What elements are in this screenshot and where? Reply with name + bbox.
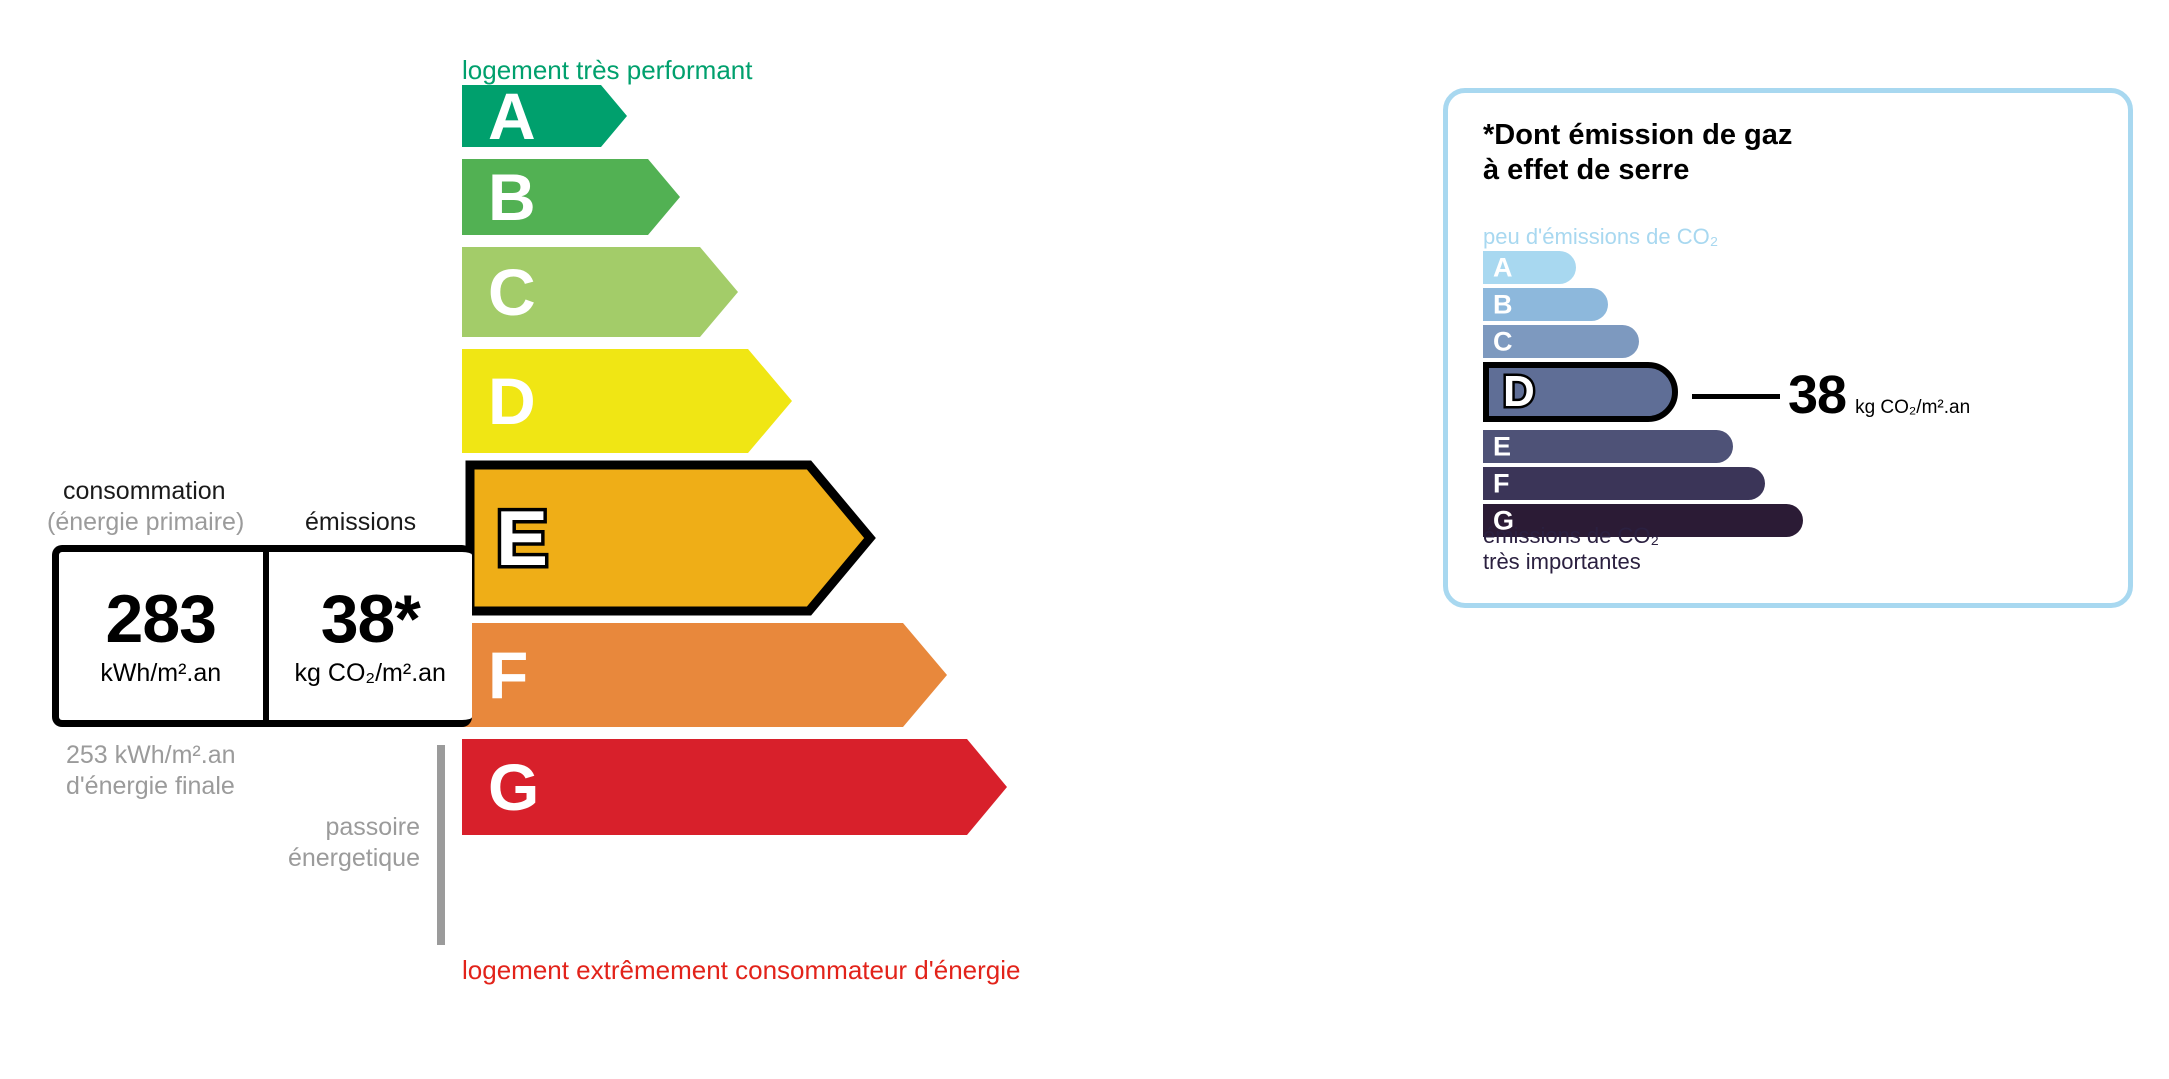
co2-class-row-f: F: [1483, 467, 1803, 500]
co2-class-letter-b: B: [1493, 291, 1513, 318]
final-energy-line2: d'énergie finale: [66, 771, 236, 802]
primary-energy-unit: kWh/m².an: [100, 659, 221, 688]
energy-class-letter-a: A: [488, 83, 536, 149]
measured-values-box: 283 kWh/m².an 38* kg CO₂/m².an: [52, 545, 472, 727]
co2-class-letter-e: E: [1493, 433, 1511, 460]
co2-class-letter-f: F: [1493, 470, 1510, 497]
co2-measured-value: 38: [1788, 368, 1846, 422]
co2-class-row-d: D: [1483, 362, 1803, 422]
co2-bottom-caption: émissions de CO₂ très importantes: [1483, 523, 1659, 576]
co2-class-bar-d: D: [1483, 362, 1678, 422]
emissions-label: émissions: [305, 508, 416, 537]
co2-measured-value-group: 38 kg CO₂/m².an: [1788, 368, 1970, 422]
energy-class-arrow-c: C: [462, 247, 738, 337]
co2-class-letter-c: C: [1493, 328, 1513, 355]
energy-class-letter-f: F: [488, 642, 528, 708]
co2-top-caption: peu d'émissions de CO₂: [1483, 224, 1718, 250]
co2-class-bar-b: B: [1483, 288, 1608, 321]
co2-panel-title: *Dont émission de gaz à effet de serre: [1483, 118, 1792, 188]
primary-energy-value-cell: 283 kWh/m².an: [59, 552, 269, 720]
passoire-energetique-note: passoire énergetique: [280, 812, 420, 873]
energy-class-letter-b: B: [488, 164, 536, 230]
energy-class-letter-e: E: [496, 499, 548, 577]
co2-class-bar-f: F: [1483, 467, 1765, 500]
co2-class-bar-a: A: [1483, 251, 1576, 284]
co2-measured-unit: kg CO₂/m².an: [1855, 397, 1970, 419]
co2-leader-line: [1692, 394, 1780, 399]
co2-class-row-c: C: [1483, 325, 1803, 358]
co2-unit: kg CO₂/m².an: [295, 659, 446, 688]
co2-title-line2: à effet de serre: [1483, 153, 1792, 188]
co2-class-row-b: B: [1483, 288, 1803, 321]
final-energy-line1: 253 kWh/m².an: [66, 740, 236, 771]
energy-class-arrow-b: B: [462, 159, 680, 235]
energy-class-letter-d: D: [488, 368, 536, 434]
co2-class-letter-a: A: [1493, 254, 1513, 281]
co2-title-line1: *Dont émission de gaz: [1483, 118, 1792, 153]
dpe-energy-scale-panel: logement très performant ABCDEFG logemen…: [0, 0, 1430, 1079]
energy-class-arrow-g: G: [462, 739, 1007, 835]
co2-class-letter-d: D: [1503, 370, 1535, 414]
energy-class-arrow-d: D: [462, 349, 792, 453]
primary-energy-value: 283: [106, 585, 216, 653]
co2-bottom-line2: très importantes: [1483, 549, 1659, 575]
passoire-line1: passoire: [280, 812, 420, 843]
energy-class-arrow-f: F: [462, 623, 947, 727]
passoire-bracket-line: [437, 745, 445, 945]
energy-class-arrow-e: E: [462, 457, 878, 619]
co2-class-row-e: E: [1483, 430, 1803, 463]
co2-value-cell: 38* kg CO₂/m².an: [269, 552, 473, 720]
co2-value: 38*: [321, 585, 420, 653]
energy-bottom-caption: logement extrêmement consommateur d'éner…: [462, 955, 1020, 986]
co2-bottom-line1: émissions de CO₂: [1483, 523, 1659, 549]
energy-class-letter-c: C: [488, 259, 536, 325]
final-energy-note: 253 kWh/m².an d'énergie finale: [66, 740, 236, 801]
energy-class-letter-g: G: [488, 754, 539, 820]
co2-class-row-a: A: [1483, 251, 1803, 284]
co2-emissions-panel: *Dont émission de gaz à effet de serre p…: [1443, 88, 2133, 608]
primary-energy-sublabel: (énergie primaire): [47, 508, 244, 537]
co2-class-bar-e: E: [1483, 430, 1733, 463]
energy-class-arrow-a: A: [462, 85, 627, 147]
passoire-line2: énergetique: [280, 843, 420, 874]
co2-class-bar-c: C: [1483, 325, 1639, 358]
consumption-label: consommation: [63, 477, 226, 506]
